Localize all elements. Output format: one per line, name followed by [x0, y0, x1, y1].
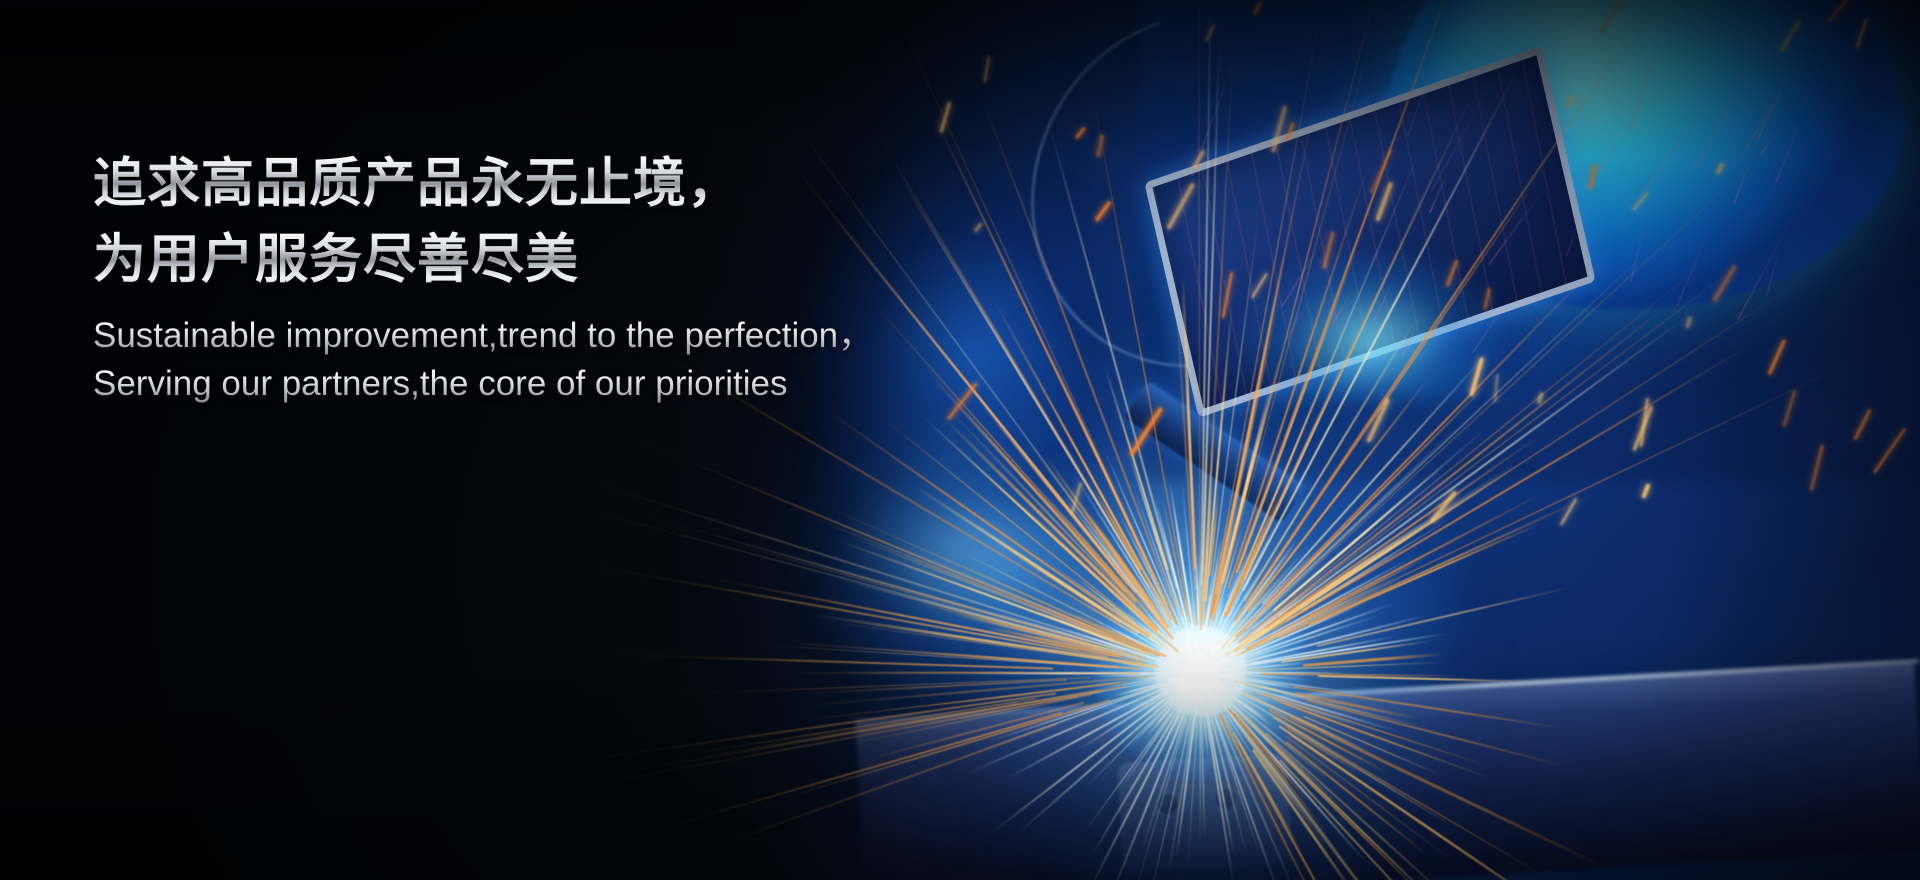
subhead-line-1: Sustainable improvement,trend to the per…	[93, 312, 1193, 360]
banner-copy: 追求高品质产品永无止境， 为用户服务尽善尽美 Sustainable impro…	[93, 146, 1193, 408]
headline-line-2: 为用户服务尽善尽美	[93, 222, 1193, 298]
headline-line-1: 追求高品质产品永无止境，	[93, 146, 1193, 222]
hero-banner: 追求高品质产品永无止境， 为用户服务尽善尽美 Sustainable impro…	[0, 0, 1920, 880]
vignette-overlay	[0, 0, 1920, 880]
subhead-line-2: Serving our partners,the core of our pri…	[93, 360, 1193, 408]
welding-photo	[0, 0, 1920, 880]
